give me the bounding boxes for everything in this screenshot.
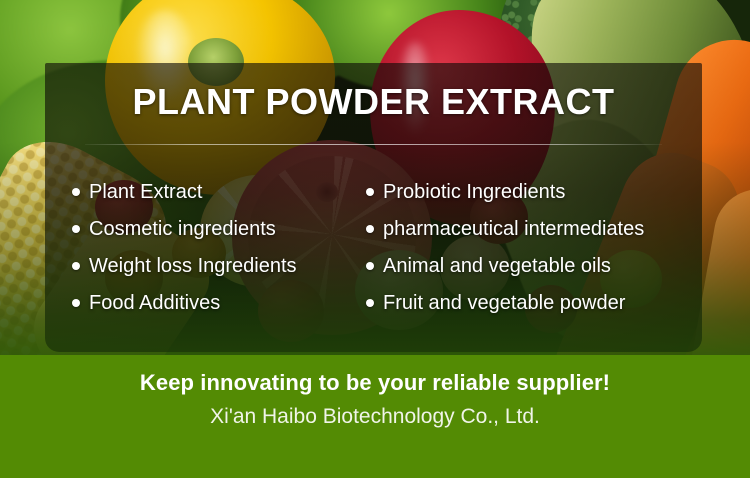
product-banner: PLANT POWDER EXTRACT Plant Extract Cosme… bbox=[0, 0, 750, 478]
footer-tagline: Keep innovating to be your reliable supp… bbox=[0, 372, 750, 394]
bullet-dot-icon bbox=[72, 225, 80, 233]
list-item-label: Food Additives bbox=[89, 293, 220, 313]
list-item[interactable]: Probiotic Ingredients bbox=[366, 173, 702, 210]
list-item[interactable]: Weight loss Ingredients bbox=[72, 247, 358, 284]
company-name: Xi'an Haibo Biotechnology Co., Ltd. bbox=[0, 406, 750, 427]
list-item-label: Fruit and vegetable powder bbox=[383, 293, 625, 313]
list-item-label: Weight loss Ingredients bbox=[89, 256, 297, 276]
feature-column-left: Plant Extract Cosmetic ingredients Weigh… bbox=[45, 173, 358, 321]
title-divider bbox=[85, 144, 662, 145]
bullet-dot-icon bbox=[72, 188, 80, 196]
bullet-dot-icon bbox=[366, 262, 374, 270]
feature-column-right: Probiotic Ingredients pharmaceutical int… bbox=[358, 173, 702, 321]
banner-title: PLANT POWDER EXTRACT bbox=[45, 84, 702, 120]
list-item[interactable]: Plant Extract bbox=[72, 173, 358, 210]
bullet-dot-icon bbox=[366, 225, 374, 233]
list-item[interactable]: Cosmetic ingredients bbox=[72, 210, 358, 247]
list-item-label: Plant Extract bbox=[89, 182, 202, 202]
list-item[interactable]: pharmaceutical intermediates bbox=[366, 210, 702, 247]
bullet-dot-icon bbox=[366, 299, 374, 307]
list-item[interactable]: Animal and vegetable oils bbox=[366, 247, 702, 284]
list-item-label: Cosmetic ingredients bbox=[89, 219, 276, 239]
list-item-label: Probiotic Ingredients bbox=[383, 182, 565, 202]
list-item[interactable]: Food Additives bbox=[72, 284, 358, 321]
list-item-label: Animal and vegetable oils bbox=[383, 256, 611, 276]
bullet-dot-icon bbox=[72, 299, 80, 307]
feature-columns: Plant Extract Cosmetic ingredients Weigh… bbox=[45, 173, 702, 321]
content-panel: PLANT POWDER EXTRACT Plant Extract Cosme… bbox=[45, 63, 702, 352]
footer-band: Keep innovating to be your reliable supp… bbox=[0, 355, 750, 478]
list-item-label: pharmaceutical intermediates bbox=[383, 219, 644, 239]
bullet-dot-icon bbox=[72, 262, 80, 270]
bullet-dot-icon bbox=[366, 188, 374, 196]
list-item[interactable]: Fruit and vegetable powder bbox=[366, 284, 702, 321]
